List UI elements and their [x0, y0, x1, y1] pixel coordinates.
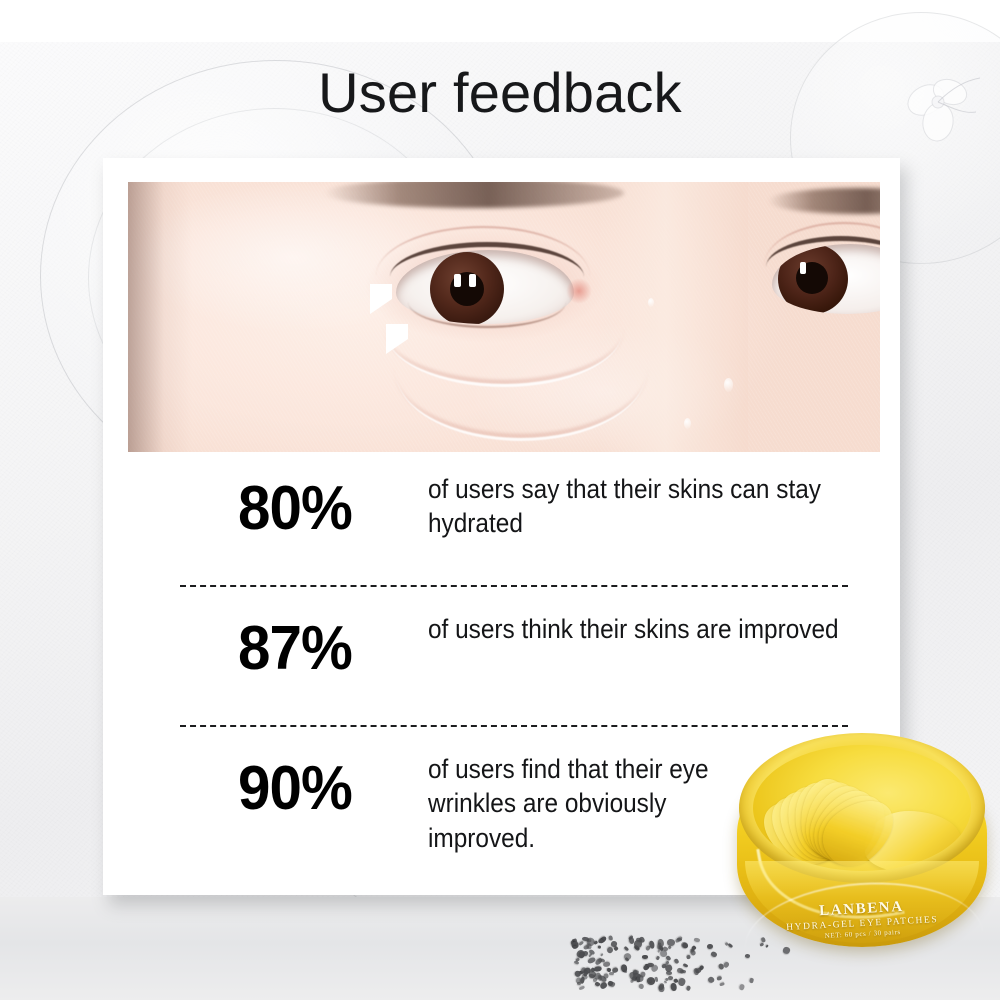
- wrinkle-marker-upper-icon: [370, 284, 392, 314]
- seed-particle: [609, 972, 614, 976]
- seed-particle: [603, 962, 611, 968]
- moisture-droplet: [684, 418, 691, 429]
- row-divider: [180, 725, 848, 727]
- seed-particle: [717, 963, 724, 970]
- product-jar: LANBENA HYDRA-GEL EYE PATCHES NET: 60 pc…: [737, 733, 987, 958]
- seed-particle: [575, 971, 581, 977]
- seed-particle: [682, 969, 686, 973]
- marketing-image: User feedback: [0, 0, 1000, 1000]
- seed-particle: [593, 940, 598, 945]
- tear-duct: [566, 278, 592, 304]
- seed-particle: [642, 955, 648, 959]
- seed-particle: [671, 983, 677, 991]
- row-divider: [180, 585, 848, 587]
- seed-particle: [692, 945, 698, 951]
- statistic-percent: 87%: [238, 610, 417, 680]
- seed-particle: [727, 943, 732, 948]
- seed-particle: [717, 975, 722, 980]
- seed-particle: [673, 958, 679, 964]
- seed-particle: [624, 946, 629, 951]
- seed-particle: [686, 955, 691, 960]
- seed-particle: [667, 975, 672, 980]
- seed-particle: [707, 976, 716, 985]
- statistic-row: 80% of users say that their skins can st…: [103, 470, 900, 541]
- moisture-droplet: [648, 298, 654, 307]
- seed-particle: [639, 983, 645, 989]
- seed-particle: [613, 946, 619, 951]
- statistic-row: 87% of users think their skins are impro…: [103, 610, 900, 680]
- seed-particle: [677, 977, 687, 987]
- seed-particle: [624, 970, 628, 974]
- eye-closeup-photo: [128, 182, 880, 452]
- seed-particle: [579, 985, 586, 990]
- seed-particle: [577, 981, 582, 985]
- seed-particle: [600, 953, 604, 957]
- seed-particle: [739, 984, 746, 991]
- temple-shadow: [128, 182, 192, 452]
- eye-secondary: [754, 218, 880, 338]
- seed-particle: [707, 944, 713, 949]
- seed-particle: [623, 952, 633, 962]
- seed-particle: [609, 981, 616, 988]
- seed-particle: [648, 940, 654, 948]
- moisture-droplet: [724, 378, 733, 392]
- seed-particle: [710, 951, 718, 958]
- seed-particle: [693, 937, 700, 942]
- seed-particle: [599, 946, 602, 949]
- seed-particle: [683, 963, 689, 968]
- seed-particle: [666, 970, 673, 975]
- seed-particle: [686, 985, 692, 991]
- statistic-description: of users say that their skins can stay h…: [428, 470, 862, 541]
- page-title: User feedback: [0, 64, 1000, 123]
- seed-particle: [659, 949, 667, 957]
- statistic-percent: 90%: [238, 750, 417, 820]
- seed-particle: [634, 940, 642, 948]
- statistic-percent: 80%: [238, 470, 417, 540]
- statistic-description: of users find that their eye wrinkles ar…: [428, 750, 732, 855]
- wrinkle-marker-lower-icon: [386, 324, 408, 354]
- seed-particle: [720, 982, 725, 986]
- seed-particle: [573, 946, 577, 949]
- seed-particle: [664, 980, 668, 983]
- seed-particle: [750, 978, 755, 984]
- seed-particle: [598, 939, 603, 943]
- seed-particle: [655, 955, 660, 960]
- seed-particle: [666, 938, 675, 947]
- statistic-description: of users think their skins are improved: [428, 610, 862, 646]
